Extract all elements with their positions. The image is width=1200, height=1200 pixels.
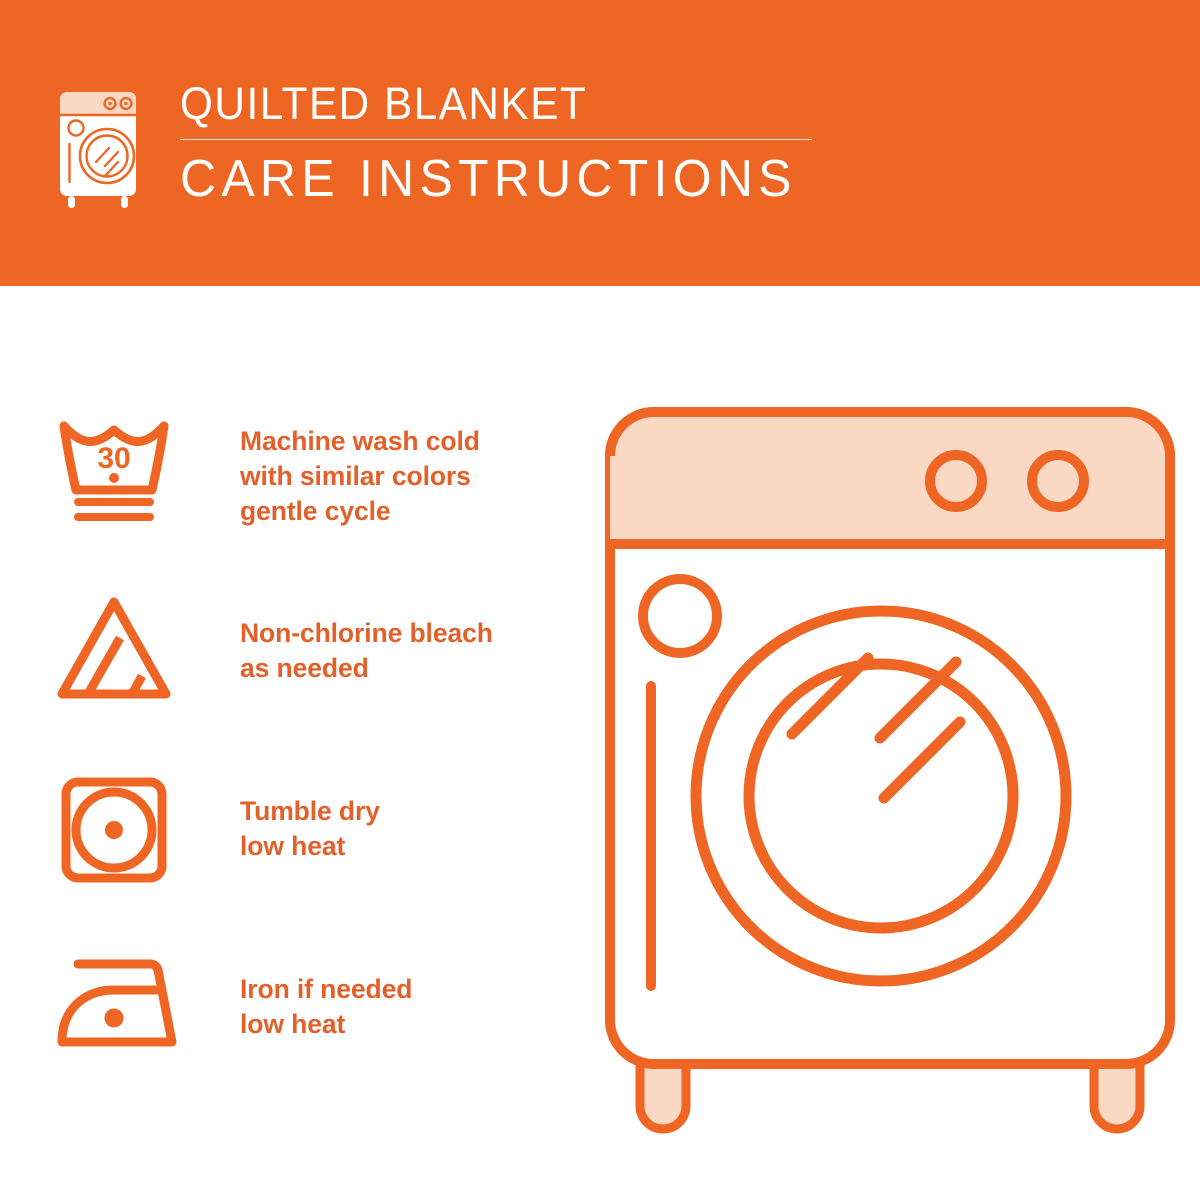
page-subtitle: CARE INSTRUCTIONS [180, 152, 1017, 207]
care-row-iron: Iron if needed low heat [52, 946, 572, 1124]
tumble-dry-icon [52, 768, 192, 893]
care-row-tumble-dry: Tumble dry low heat [52, 768, 572, 946]
care-text-bleach: Non-chlorine bleach as needed [240, 590, 572, 686]
care-instruction-list: 30 Machine wash cold with similar colors… [52, 412, 572, 1124]
care-row-bleach: Non-chlorine bleach as needed [52, 590, 572, 768]
title-divider [180, 139, 812, 140]
iron-icon [52, 946, 192, 1071]
header-banner: QUILTED BLANKET CARE INSTRUCTIONS [0, 0, 1200, 286]
header-titles: QUILTED BLANKET CARE INSTRUCTIONS [180, 78, 1052, 207]
wash-tub-icon: 30 [52, 412, 192, 537]
care-text-machine-wash: Machine wash cold with similar colors ge… [240, 412, 572, 529]
washing-machine-illustration [596, 398, 1184, 1138]
header-content: QUILTED BLANKET CARE INSTRUCTIONS [52, 78, 1052, 218]
page-title: QUILTED BLANKET [180, 80, 1000, 128]
wash-temperature-label: 30 [97, 442, 130, 475]
care-text-tumble-dry: Tumble dry low heat [240, 768, 572, 864]
bleach-triangle-icon [52, 590, 192, 715]
care-text-iron: Iron if needed low heat [240, 946, 572, 1042]
washing-machine-icon [52, 82, 148, 212]
care-row-machine-wash: 30 Machine wash cold with similar colors… [52, 412, 572, 590]
